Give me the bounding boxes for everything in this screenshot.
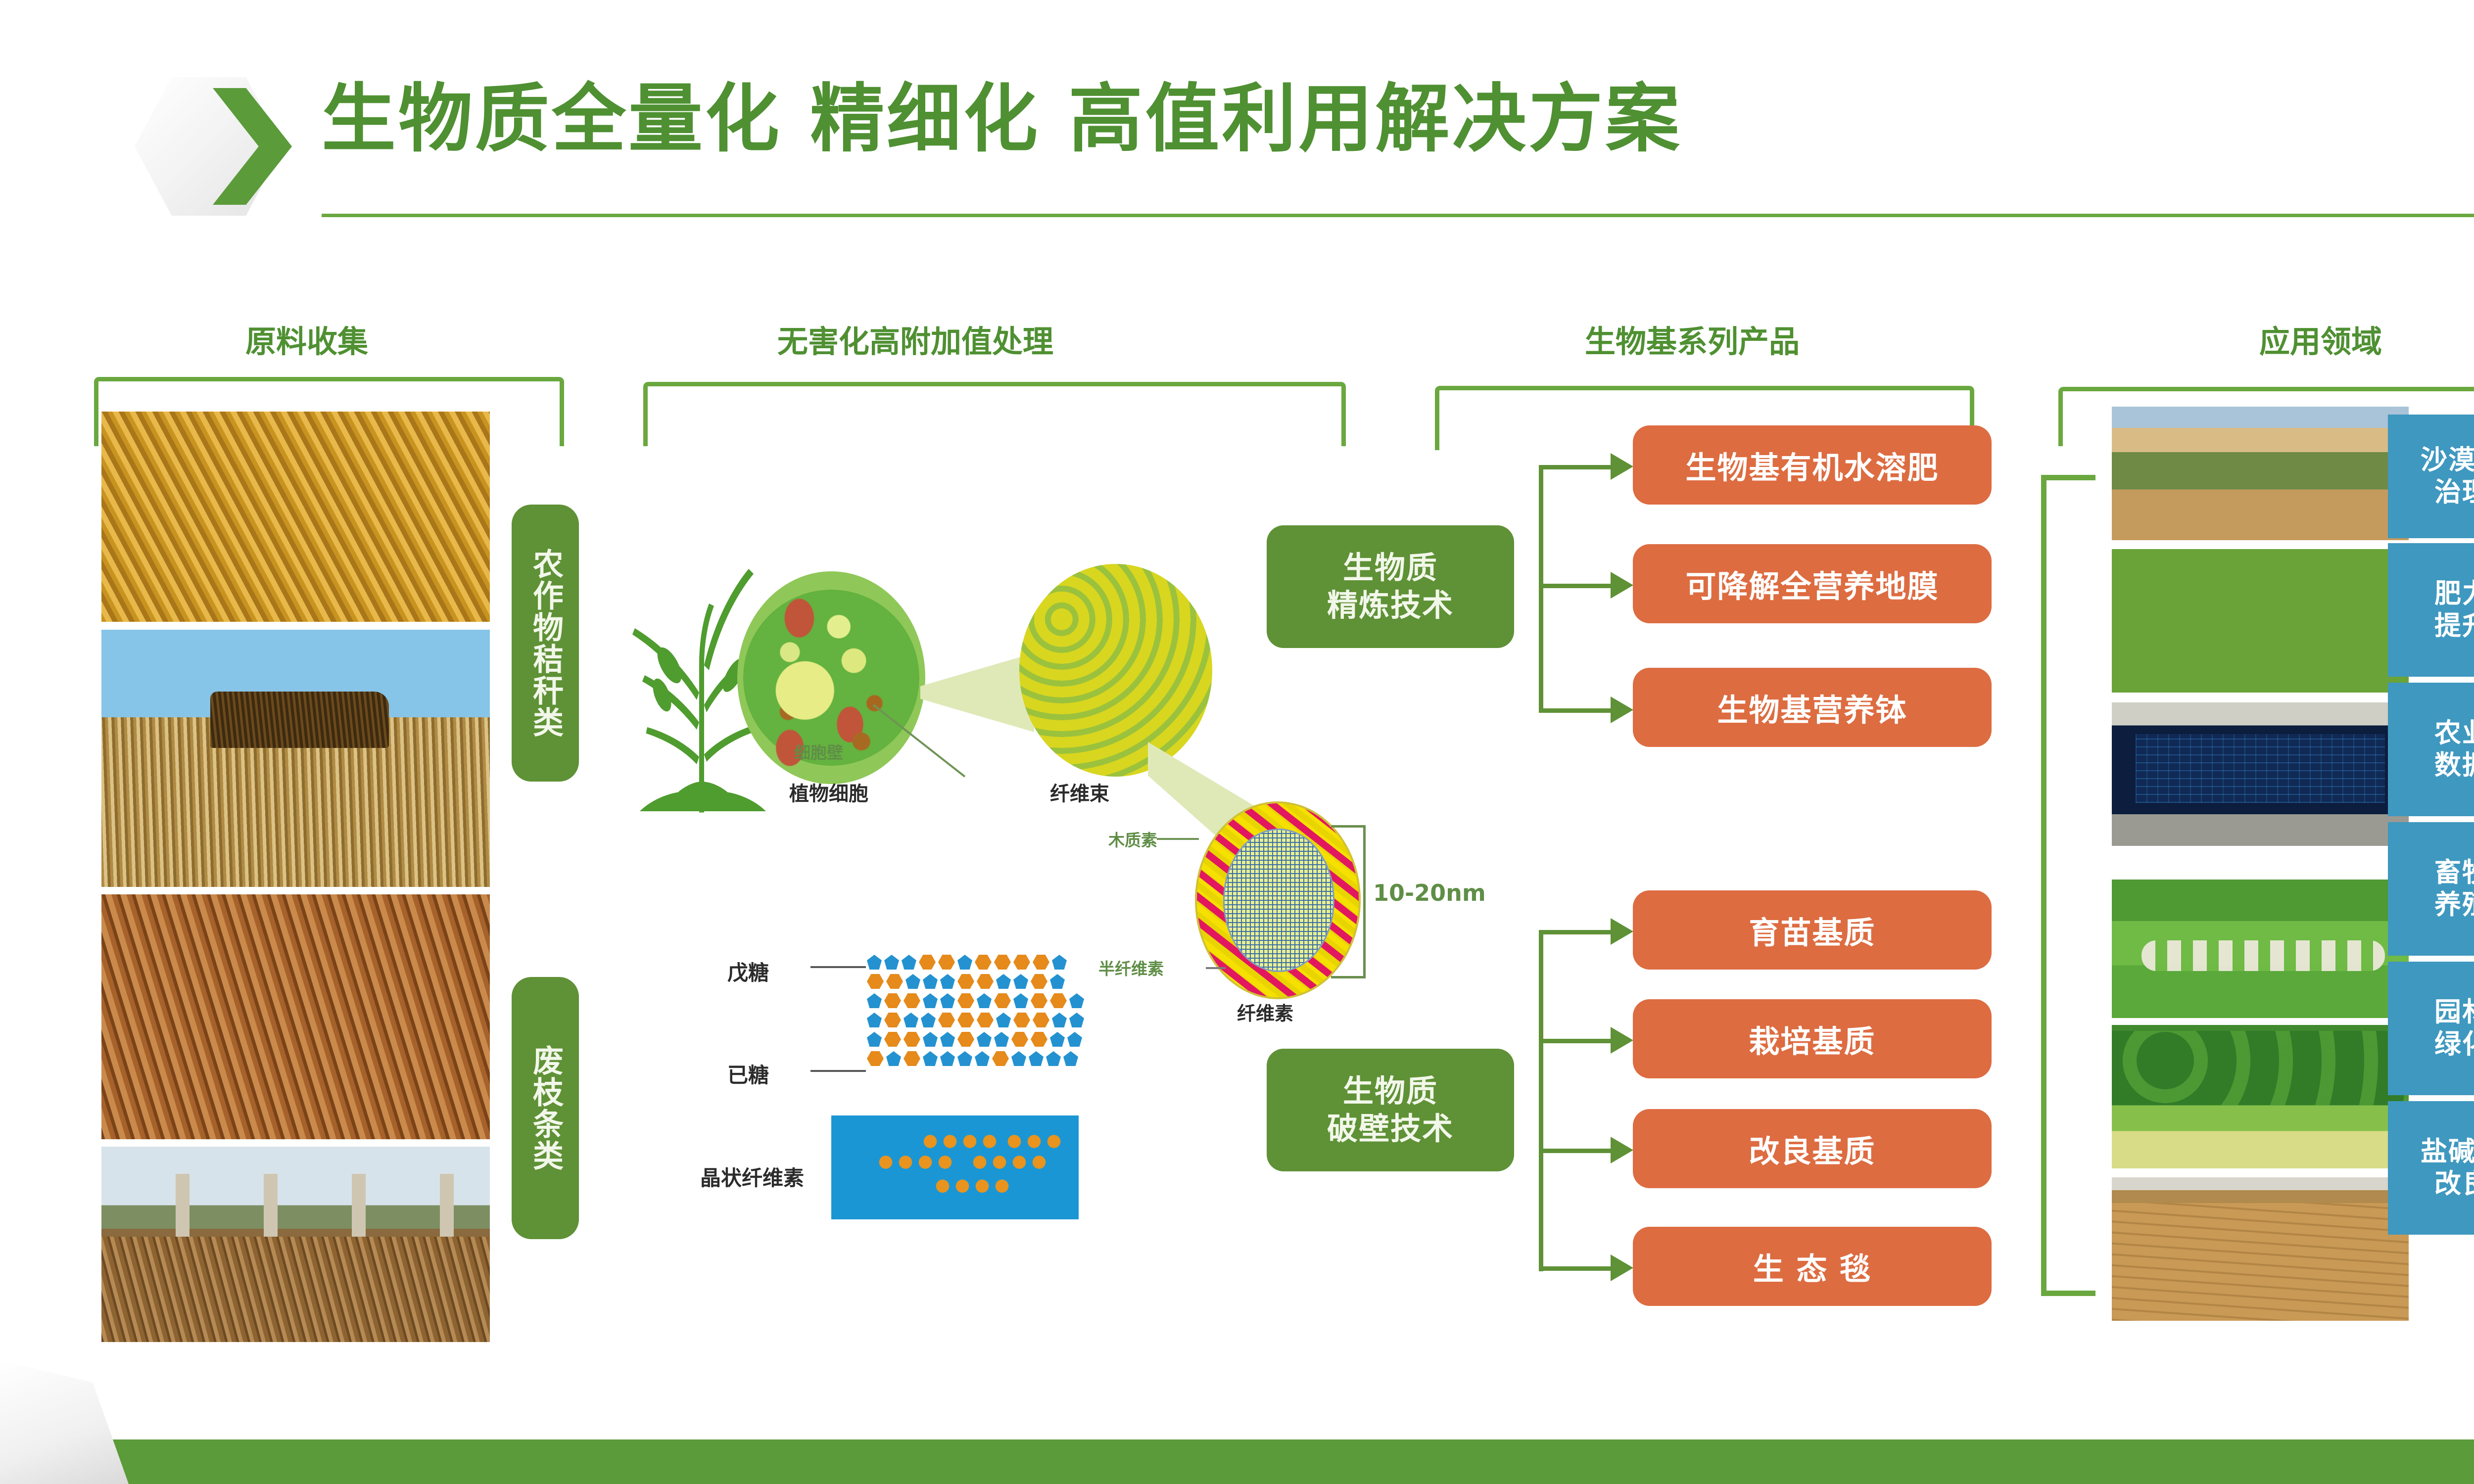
arrow-icon-refining-3	[1611, 696, 1633, 723]
product-box-soluble-fertilizer[interactable]: 生物基有机水溶肥	[1633, 425, 1992, 505]
lignin-label: 木质素	[1108, 827, 1157, 851]
pentose-leader-line	[810, 966, 866, 968]
application-tag-agri-data[interactable]: 农业 数据	[2388, 683, 2474, 816]
pentose-label: 戊糖	[727, 956, 769, 986]
footer-bar	[0, 1439, 2474, 1484]
connector-branch-wb-1	[1539, 930, 1613, 934]
application-tag-fertility[interactable]: 肥力 提升	[2388, 543, 2474, 677]
application-tag-livestock[interactable]: 畜牧 养殖	[2388, 822, 2474, 956]
feedstock-group-label-crop-straw: 农作物秸秆类	[512, 505, 579, 782]
arrow-icon-wb-4	[1611, 1254, 1633, 1281]
sugar-row	[867, 1013, 1084, 1027]
feedstock-photo-corn-straw	[101, 412, 490, 622]
photo-branch-litter-layer	[101, 1237, 490, 1342]
hemicellulose-leader-line	[1206, 967, 1226, 969]
dimension-tick-top	[1331, 825, 1366, 828]
fiber-bundle-label: 纤维束	[1050, 778, 1109, 806]
tech-box-wall-breaking-line1: 生物质	[1343, 1072, 1438, 1110]
connector-trunk-refining	[1539, 465, 1543, 712]
application-tag-line1: 盐碱地	[2421, 1136, 2474, 1168]
title-underline-rule	[322, 214, 2474, 217]
connector-branch-wb-3	[1539, 1149, 1613, 1153]
hemicellulose-label: 半纤维素	[1098, 956, 1164, 979]
applications-link-bracket	[2041, 475, 2095, 1296]
application-photo-landscaping	[2112, 1025, 2409, 1168]
application-photo-fertility	[2112, 549, 2409, 693]
application-tag-line2: 养殖	[2434, 889, 2474, 921]
application-tag-line1: 畜牧	[2434, 857, 2474, 889]
product-box-seedling-substrate[interactable]: 育苗基质	[1633, 890, 1992, 970]
hexose-leader-line	[810, 1070, 866, 1072]
connector-branch-wb-4	[1539, 1266, 1613, 1271]
feedstock-group-label-waste-branch: 废枝条类	[512, 977, 579, 1239]
application-tag-line2: 绿化	[2434, 1028, 2474, 1061]
tech-box-wall-breaking[interactable]: 生物质 破壁技术	[1267, 1049, 1514, 1171]
section-label-products: 生物基系列产品	[1390, 317, 1994, 361]
product-box-improvement-substrate[interactable]: 改良基质	[1633, 1109, 1992, 1188]
tech-box-refining-line1: 生物质	[1343, 549, 1438, 587]
slide-canvas: 生物质全量化 精细化 高值利用解决方案 原料收集 无害化高附加值处理 生物基系列…	[0, 0, 2474, 1484]
product-box-nutrient-pot[interactable]: 生物基营养钵	[1633, 668, 1992, 747]
application-tag-saline-alkali[interactable]: 盐碱地 改良	[2388, 1101, 2474, 1235]
sugar-chain-diagram	[867, 955, 1084, 1070]
title-bar: 生物质全量化 精细化 高值利用解决方案	[0, 0, 2474, 257]
product-box-cultivation-substrate[interactable]: 栽培基质	[1633, 999, 1992, 1078]
dimension-vertical-line	[1363, 825, 1366, 978]
connector-trunk-wall-breaking	[1539, 930, 1543, 1271]
feedstock-photo-orchard	[101, 1147, 490, 1342]
hexose-label: 已糖	[727, 1059, 769, 1089]
application-tag-desertification[interactable]: 沙漠化 治理	[2388, 415, 2474, 538]
tech-box-refining[interactable]: 生物质 精炼技术	[1267, 525, 1514, 648]
application-tag-line1: 农业	[2434, 717, 2474, 749]
application-tag-line1: 园林	[2434, 996, 2474, 1028]
connector-branch-wb-2	[1539, 1039, 1613, 1043]
arrow-icon-wb-3	[1611, 1137, 1633, 1163]
fiber-dimension-label: 10-20nm	[1373, 880, 1486, 906]
sugar-row	[867, 955, 1084, 970]
section-label-applications: 应用领域	[2098, 317, 2474, 361]
application-photo-saline-alkali	[2112, 1177, 2409, 1321]
plant-cell-label: 植物细胞	[789, 778, 868, 806]
cellulose-label: 纤维素	[1237, 998, 1293, 1025]
fiber-bundle-illustration	[1019, 564, 1212, 777]
application-tag-line2: 提升	[2434, 610, 2474, 642]
section-label-feedstock: 原料收集	[153, 317, 460, 361]
product-box-ecological-blanket[interactable]: 生 态 毯	[1633, 1227, 1992, 1306]
arrow-icon-refining-2	[1611, 572, 1633, 599]
application-photo-desertification	[2112, 407, 2409, 540]
application-tag-line2: 治理	[2434, 476, 2474, 509]
section-bracket-processing	[643, 382, 1346, 446]
connector-branch-refining-3	[1539, 708, 1613, 713]
sugar-row	[867, 1032, 1084, 1047]
application-tag-line1: 肥力	[2434, 578, 2474, 610]
arrow-icon-wb-2	[1611, 1027, 1633, 1054]
tech-box-refining-line2: 精炼技术	[1327, 587, 1454, 624]
lignin-leader-line	[1157, 838, 1199, 840]
feedstock-photo-branches	[101, 894, 490, 1139]
cellulose-core	[1223, 829, 1334, 972]
crystalline-cellulose-diagram	[831, 1115, 1079, 1219]
product-box-biodegradable-mulch[interactable]: 可降解全营养地膜	[1633, 544, 1992, 623]
sugar-row	[867, 1051, 1084, 1066]
connector-branch-refining-1	[1539, 465, 1613, 469]
photo-ground-layer	[101, 717, 490, 887]
arrow-icon-wb-1	[1611, 918, 1633, 945]
crystalline-cellulose-label: 晶状纤维素	[700, 1161, 804, 1192]
footer-wedge-decoration	[0, 1360, 129, 1484]
application-tag-line2: 数据	[2434, 749, 2474, 782]
section-label-processing: 无害化高附加值处理	[510, 317, 1321, 361]
application-tag-landscaping[interactable]: 园林 绿化	[2388, 962, 2474, 1095]
application-photo-agri-data	[2112, 702, 2409, 846]
connector-branch-refining-2	[1539, 584, 1613, 588]
cell-wall-label: 细胞壁	[794, 740, 843, 763]
application-tag-line1: 沙漠化	[2421, 444, 2474, 476]
dimension-tick-bottom	[1331, 976, 1366, 978]
page-title: 生物质全量化 精细化 高值利用解决方案	[322, 82, 1682, 156]
arrow-icon-refining-1	[1611, 453, 1633, 480]
feedstock-photo-baled-straw	[101, 630, 490, 887]
application-photo-livestock	[2112, 880, 2409, 1018]
tech-box-wall-breaking-line2: 破壁技术	[1327, 1110, 1454, 1148]
application-tag-line2: 改良	[2434, 1168, 2474, 1200]
sugar-row	[867, 974, 1084, 989]
cell-wall-leader-line	[871, 702, 975, 782]
sugar-row	[867, 993, 1084, 1008]
